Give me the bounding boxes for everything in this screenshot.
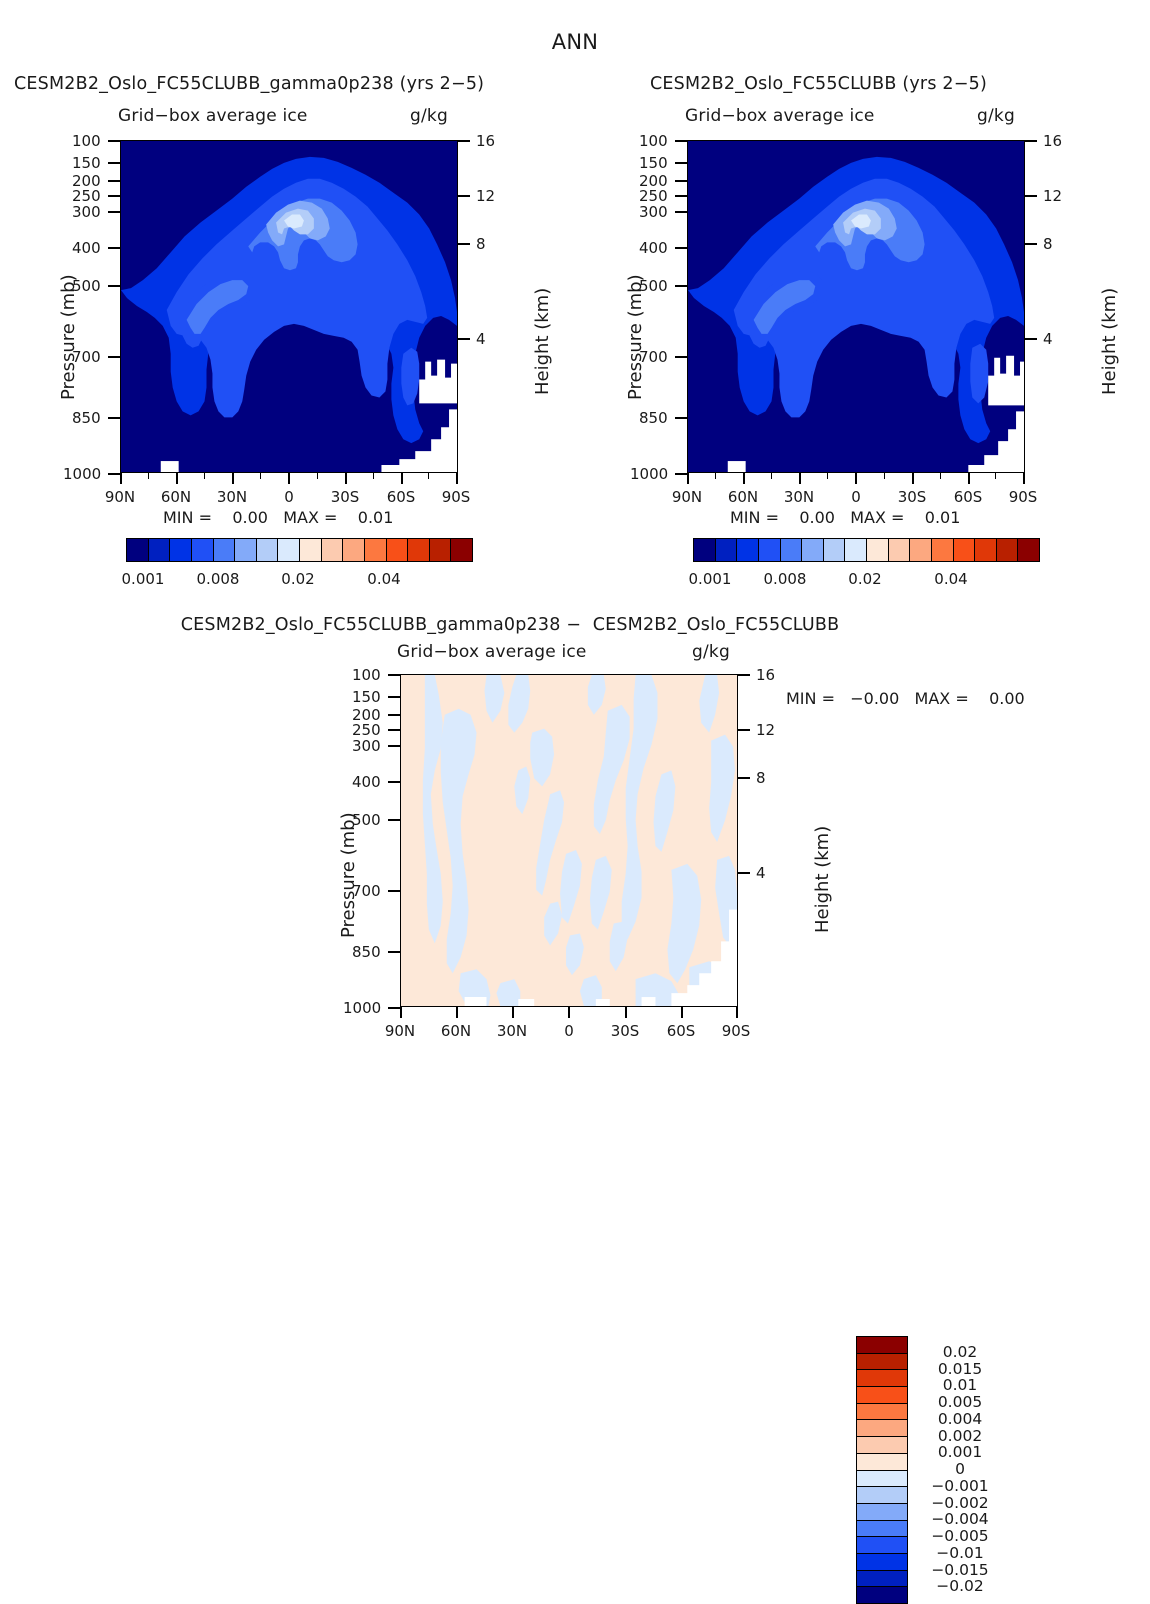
xtick-minor — [148, 473, 149, 479]
ytick-label: 100 — [72, 132, 101, 150]
ytick-label: 150 — [72, 154, 101, 172]
colorbar-cell-10 — [910, 539, 932, 561]
colorbar-cell-8 — [867, 539, 889, 561]
ytick-label: 1000 — [630, 465, 668, 483]
colorbar-tick-label: 0.001 — [680, 570, 740, 588]
diff-legend-label: −0.002 — [915, 1494, 1005, 1512]
ytick-label: 300 — [639, 203, 668, 221]
xtick-mark — [176, 473, 178, 484]
xtick-label: 60S — [657, 1022, 705, 1040]
xtick-label: 0 — [265, 488, 313, 506]
panel-right-top-title: CESM2B2_Oslo_FC55CLUBB (yrs 2−5) — [650, 74, 987, 94]
ytick-mark — [108, 417, 120, 419]
colorbar-cell-1 — [716, 539, 738, 561]
panel-diff-plot[interactable] — [400, 674, 738, 1007]
colorbar-cell-15 — [451, 539, 472, 561]
ytick-label: 400 — [639, 239, 668, 257]
ytick-mark — [388, 674, 400, 676]
ytick-mark — [388, 951, 400, 953]
y2tick-mark — [738, 872, 750, 874]
xtick-mark — [799, 473, 801, 484]
xtick-mark — [968, 473, 970, 484]
colorbar-tick-label: 0.02 — [272, 570, 324, 588]
ytick-mark — [388, 1007, 400, 1009]
ytick-label: 100 — [639, 132, 668, 150]
colorbar-cell-5 — [802, 539, 824, 561]
ytick-mark — [675, 356, 687, 358]
ytick-mark — [108, 162, 120, 164]
xtick-mark — [401, 473, 403, 484]
y2tick-label: 4 — [1043, 330, 1053, 348]
diff-legend-cell-6 — [857, 1437, 907, 1454]
diff-legend-label: −0.004 — [915, 1510, 1005, 1528]
colorbar-cell-7 — [845, 539, 867, 561]
colorbar-cell-13 — [408, 539, 430, 561]
xtick-label: 90S — [712, 1022, 760, 1040]
ytick-label: 150 — [352, 688, 381, 706]
diff-legend-cell-13 — [857, 1554, 907, 1571]
colorbar-cell-8 — [300, 539, 322, 561]
ytick-label: 700 — [639, 348, 668, 366]
colorbar-cell-13 — [975, 539, 997, 561]
colorbar-cell-1 — [149, 539, 171, 561]
y2tick-label: 12 — [1043, 187, 1062, 205]
xtick-label: 90N — [96, 488, 144, 506]
xtick-mark — [456, 473, 458, 484]
xtick-minor — [884, 473, 885, 479]
xtick-minor — [995, 473, 996, 479]
panel-right-top: CESM2B2_Oslo_FC55CLUBB (yrs 2−5) Grid−bo… — [530, 0, 1150, 600]
y2tick-label: 8 — [1043, 235, 1053, 253]
xtick-mark — [568, 1007, 570, 1018]
xtick-label: 60S — [944, 488, 992, 506]
ytick-mark — [675, 473, 687, 475]
xtick-label: 90S — [999, 488, 1047, 506]
xtick-label: 60S — [377, 488, 425, 506]
colorbar-cell-5 — [235, 539, 257, 561]
colorbar-cell-14 — [997, 539, 1019, 561]
y2tick-label: 8 — [756, 769, 766, 787]
xtick-label: 90N — [376, 1022, 424, 1040]
diff-legend-label: 0.01 — [915, 1376, 1005, 1394]
xtick-minor — [715, 473, 716, 479]
y2tick-label: 4 — [476, 330, 486, 348]
ytick-mark — [108, 140, 120, 142]
ytick-label: 500 — [639, 277, 668, 295]
colorbar-cell-0 — [127, 539, 149, 561]
xtick-mark — [1023, 473, 1025, 484]
xtick-mark — [400, 1007, 402, 1018]
xtick-minor — [204, 473, 205, 479]
y2tick-mark — [458, 140, 470, 142]
y2tick-mark — [1025, 195, 1037, 197]
xtick-label: 0 — [545, 1022, 593, 1040]
ytick-label: 1000 — [63, 465, 101, 483]
y2tick-mark — [1025, 140, 1037, 142]
panel-left-top-units: g/kg — [410, 106, 448, 126]
y2tick-mark — [738, 777, 750, 779]
diff-legend-cell-11 — [857, 1521, 907, 1538]
ytick-mark — [675, 195, 687, 197]
xtick-mark — [232, 473, 234, 484]
diff-legend-cell-9 — [857, 1487, 907, 1504]
ytick-mark — [388, 781, 400, 783]
diff-legend-cell-4 — [857, 1404, 907, 1421]
panel-right-top-variable-label: Grid−box average ice — [685, 106, 875, 126]
y2tick-label: 8 — [476, 235, 486, 253]
ytick-label: 700 — [352, 882, 381, 900]
diff-legend-cell-2 — [857, 1370, 907, 1387]
panel-diff-title: CESM2B2_Oslo_FC55CLUBB_gamma0p238 − CESM… — [0, 615, 1020, 635]
diff-legend-label: 0.02 — [915, 1343, 1005, 1361]
ytick-label: 850 — [352, 943, 381, 961]
xtick-minor — [428, 473, 429, 479]
ytick-label: 300 — [352, 737, 381, 755]
diff-legend-label: 0.015 — [915, 1360, 1005, 1378]
panel-right-top-plot[interactable] — [687, 140, 1025, 473]
ytick-mark — [108, 195, 120, 197]
ytick-label: 100 — [352, 666, 381, 684]
diff-legend-cell-10 — [857, 1504, 907, 1521]
colorbar-cell-12 — [954, 539, 976, 561]
diff-legend-label: −0.01 — [915, 1544, 1005, 1562]
ytick-mark — [108, 180, 120, 182]
y2tick-label: 12 — [756, 721, 775, 739]
ytick-label: 500 — [352, 811, 381, 829]
xtick-label: 30N — [488, 1022, 536, 1040]
y2tick-mark — [738, 729, 750, 731]
xtick-label: 30S — [888, 488, 936, 506]
diff-legend-cell-8 — [857, 1471, 907, 1488]
panel-diff-y2label: Height (km) — [812, 826, 833, 933]
xtick-mark — [512, 1007, 514, 1018]
diff-legend-cell-7 — [857, 1454, 907, 1471]
colorbar-tick-label: 0.008 — [755, 570, 815, 588]
ytick-label: 850 — [639, 409, 668, 427]
xtick-minor — [317, 473, 318, 479]
panel-diff: CESM2B2_Oslo_FC55CLUBB_gamma0p238 − CESM… — [0, 600, 1150, 1148]
panel-left-top-variable-label: Grid−box average ice — [118, 106, 308, 126]
panel-diff-units: g/kg — [692, 642, 730, 662]
contour-field-diff — [401, 675, 737, 1006]
diff-legend-cell-15 — [857, 1587, 907, 1603]
y2tick-label: 12 — [476, 187, 495, 205]
diff-legend-label: 0.004 — [915, 1410, 1005, 1428]
panel-diff-variable-label: Grid−box average ice — [397, 642, 587, 662]
panel-left-top-title: CESM2B2_Oslo_FC55CLUBB_gamma0p238 (yrs 2… — [14, 74, 484, 94]
colorbar-cell-11 — [932, 539, 954, 561]
colorbar-cell-0 — [694, 539, 716, 561]
panel-left-top: CESM2B2_Oslo_FC55CLUBB_gamma0p238 (yrs 2… — [0, 0, 575, 600]
ytick-label: 850 — [72, 409, 101, 427]
diff-legend-label: 0.002 — [915, 1427, 1005, 1445]
ytick-mark — [675, 180, 687, 182]
xtick-label: 90N — [663, 488, 711, 506]
xtick-label: 60N — [719, 488, 767, 506]
panel-right-top-y2label: Height (km) — [1099, 288, 1120, 395]
ytick-mark — [675, 140, 687, 142]
xtick-label: 30S — [601, 1022, 649, 1040]
ytick-mark — [675, 417, 687, 419]
colorbar-tick-label: 0.04 — [358, 570, 410, 588]
diff-legend-cell-3 — [857, 1387, 907, 1404]
colorbar-left-top[interactable] — [126, 538, 473, 562]
colorbar-cell-2 — [170, 539, 192, 561]
ytick-label: 700 — [72, 348, 101, 366]
ytick-mark — [388, 890, 400, 892]
contour-field-right-top — [688, 141, 1024, 472]
y2tick-mark — [738, 674, 750, 676]
diff-legend-label: 0.005 — [915, 1393, 1005, 1411]
diff-legend-label: 0 — [915, 1460, 1005, 1478]
y2tick-mark — [458, 195, 470, 197]
y2tick-label: 16 — [756, 666, 775, 684]
xtick-label: 90S — [432, 488, 480, 506]
colorbar-cell-11 — [365, 539, 387, 561]
panel-diff-ylabel: Pressure (mb) — [338, 812, 359, 938]
y2tick-label: 16 — [1043, 132, 1062, 150]
y2tick-mark — [458, 243, 470, 245]
ytick-mark — [108, 285, 120, 287]
panel-diff-minmax: MIN = −0.00 MAX = 0.00 — [786, 689, 1025, 708]
diff-legend-label: 0.001 — [915, 1443, 1005, 1461]
ytick-label: 500 — [72, 277, 101, 295]
xtick-minor — [260, 473, 261, 479]
xtick-label: 0 — [832, 488, 880, 506]
xtick-minor — [940, 473, 941, 479]
panel-left-top-minmax: MIN = 0.00 MAX = 0.01 — [163, 508, 393, 527]
diff-legend-cell-5 — [857, 1420, 907, 1437]
ytick-mark — [388, 819, 400, 821]
colorbar-tick-label: 0.001 — [113, 570, 173, 588]
ytick-mark — [675, 247, 687, 249]
xtick-mark — [855, 473, 857, 484]
y2tick-mark — [1025, 243, 1037, 245]
xtick-mark — [456, 1007, 458, 1018]
xtick-mark — [345, 473, 347, 484]
colorbar-cell-4 — [781, 539, 803, 561]
colorbar-cell-4 — [214, 539, 236, 561]
xtick-label: 30S — [321, 488, 369, 506]
y2tick-mark — [458, 338, 470, 340]
colorbar-cell-7 — [278, 539, 300, 561]
colorbar-cell-9 — [889, 539, 911, 561]
xtick-label: 30N — [775, 488, 823, 506]
xtick-mark — [625, 1007, 627, 1018]
ytick-mark — [388, 745, 400, 747]
xtick-mark — [736, 1007, 738, 1018]
colorbar-right-top[interactable] — [693, 538, 1040, 562]
ytick-mark — [675, 211, 687, 213]
colorbar-cell-14 — [430, 539, 452, 561]
ytick-mark — [388, 729, 400, 731]
ytick-label: 1000 — [343, 999, 381, 1017]
xtick-minor — [373, 473, 374, 479]
ytick-mark — [108, 247, 120, 249]
xtick-mark — [681, 1007, 683, 1018]
xtick-mark — [288, 473, 290, 484]
xtick-mark — [687, 473, 689, 484]
contour-field-left-top — [121, 141, 457, 472]
y2tick-label: 16 — [476, 132, 495, 150]
ytick-label: 150 — [639, 154, 668, 172]
ytick-mark — [675, 162, 687, 164]
xtick-minor — [827, 473, 828, 479]
xtick-mark — [912, 473, 914, 484]
diff-legend-cell-0 — [857, 1337, 907, 1354]
xtick-mark — [120, 473, 122, 484]
diff-legend-label: −0.02 — [915, 1577, 1005, 1595]
colorbar-cell-2 — [737, 539, 759, 561]
diff-legend-label: −0.005 — [915, 1527, 1005, 1545]
colorbar-tick-label: 0.02 — [839, 570, 891, 588]
xtick-minor — [771, 473, 772, 479]
ytick-mark — [388, 714, 400, 716]
panel-left-top-plot[interactable] — [120, 140, 458, 473]
ytick-mark — [675, 285, 687, 287]
ytick-mark — [108, 473, 120, 475]
diff-legend-cell-1 — [857, 1354, 907, 1371]
colorbar-cell-6 — [824, 539, 846, 561]
diff-legend-label: −0.001 — [915, 1477, 1005, 1495]
xtick-label: 60N — [432, 1022, 480, 1040]
colorbar-cell-15 — [1018, 539, 1039, 561]
colorbar-cell-9 — [322, 539, 344, 561]
ytick-mark — [108, 356, 120, 358]
diff-legend-cell-14 — [857, 1571, 907, 1588]
ytick-label: 400 — [352, 773, 381, 791]
colorbar-cell-3 — [759, 539, 781, 561]
ytick-label: 300 — [72, 203, 101, 221]
y2tick-mark — [1025, 338, 1037, 340]
colorbar-cell-6 — [257, 539, 279, 561]
colorbar-cell-12 — [387, 539, 409, 561]
ytick-mark — [108, 211, 120, 213]
panel-right-top-units: g/kg — [977, 106, 1015, 126]
colorbar-cell-10 — [343, 539, 365, 561]
colorbar-cell-3 — [192, 539, 214, 561]
diff-legend-colorbar[interactable] — [856, 1336, 908, 1604]
y2tick-label: 4 — [756, 864, 766, 882]
ytick-label: 400 — [72, 239, 101, 257]
colorbar-tick-label: 0.008 — [188, 570, 248, 588]
xtick-label: 60N — [152, 488, 200, 506]
colorbar-tick-label: 0.04 — [925, 570, 977, 588]
diff-legend-cell-12 — [857, 1537, 907, 1554]
ytick-mark — [388, 696, 400, 698]
panel-right-top-minmax: MIN = 0.00 MAX = 0.01 — [730, 508, 960, 527]
xtick-label: 30N — [208, 488, 256, 506]
xtick-mark — [743, 473, 745, 484]
diff-legend-label: −0.015 — [915, 1561, 1005, 1579]
